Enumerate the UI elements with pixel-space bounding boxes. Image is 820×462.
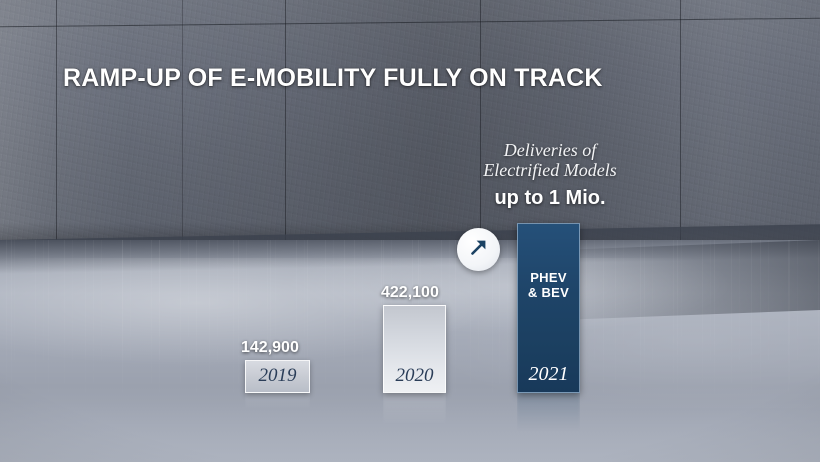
wall-seam-vertical — [182, 0, 183, 248]
trend-arrow-badge — [457, 228, 500, 271]
slide-title: RAMP-UP OF E-MOBILITY FULLY ON TRACK — [63, 64, 603, 93]
slide-stage: RAMP-UP OF E-MOBILITY FULLY ON TRACK Del… — [0, 0, 820, 462]
series-label-line-2: & BEV — [518, 285, 579, 300]
wall-seam-vertical — [680, 0, 681, 248]
bar-2019: 2019 — [245, 360, 310, 393]
bar-value-label-2019: 142,900 — [241, 339, 299, 357]
callout-block: Deliveries of Electrified Models up to 1… — [425, 140, 675, 210]
series-label-line-1: PHEV — [518, 270, 579, 285]
bar-2020: 2020 — [383, 305, 446, 393]
bar-reflection-2021 — [517, 391, 580, 449]
bar-series-label-2021: PHEV & BEV — [518, 270, 579, 300]
callout-highlight: up to 1 Mio. — [425, 187, 675, 210]
trend-arrow-up-right-icon — [467, 235, 491, 264]
bar-2021: PHEV & BEV 2021 — [517, 223, 580, 393]
bar-value-label-2020: 422,100 — [381, 284, 439, 302]
wall-texture — [0, 0, 820, 248]
bar-reflection-2019 — [245, 391, 310, 417]
callout-line-2: Electrified Models — [425, 160, 675, 180]
bar-year-label-2019: 2019 — [246, 365, 309, 387]
wall-seam-vertical — [480, 0, 481, 248]
background-wall — [0, 0, 820, 248]
callout-line-1: Deliveries of — [425, 140, 675, 160]
bar-year-label-2021: 2021 — [518, 363, 579, 386]
bar-reflection-2020 — [383, 391, 446, 439]
bar-year-label-2020: 2020 — [384, 365, 445, 387]
wall-seam-vertical — [285, 0, 286, 248]
wall-seam-vertical — [56, 0, 57, 248]
